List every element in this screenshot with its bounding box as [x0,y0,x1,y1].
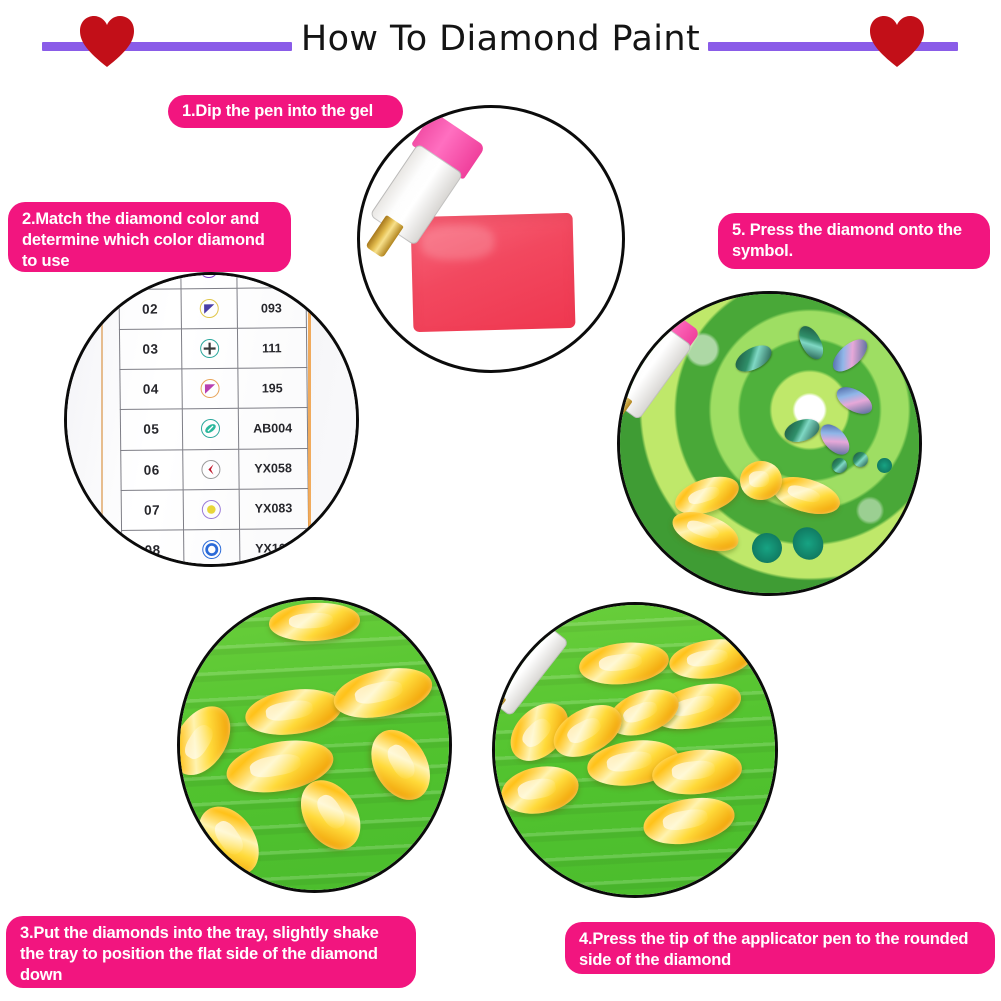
chart-symbol-double-dot-symbol [199,272,218,278]
chart-cell-code: AB004 [238,408,308,449]
step-4-photo [492,602,778,898]
page-header: How To Diamond Paint [0,0,1001,80]
chart-cell-number: 02? [119,272,181,289]
color-chart-image: 02?02802093031110419505AB00406YX05807YX0… [67,275,356,564]
step-2-photo: 02?02802093031110419505AB00406YX05807YX0… [64,272,359,567]
page-title: How To Diamond Paint [0,18,1001,60]
chart-cell-symbol [183,448,239,489]
chart-row: 04195 [120,367,307,409]
chart-cell-symbol [181,288,237,329]
chart-cell-number: 02 [119,289,181,330]
chart-cell-code: YX083 [239,488,309,529]
chart-cell-number: 08 [122,529,184,567]
chart-symbol-chevron-symbol [201,459,220,478]
chart-row: 02093 [119,287,306,329]
chart-symbol-oval-slash-symbol [201,419,220,438]
chart-cell-symbol [183,529,239,567]
chart-cell-code: YX058 [239,448,309,489]
chart-cell-number: 03 [120,329,182,370]
chart-row: 08YX106 [122,528,309,567]
chart-symbol-ring-symbol [202,539,221,558]
chart-cell-number: 05 [120,409,182,450]
chart-cell-code: 028 [236,272,306,288]
chart-symbol-plus-symbol [200,339,219,358]
chart-symbol-triangle-symbol [199,299,218,318]
step-3-photo [177,597,452,893]
diamonds-in-tray-image [180,600,449,890]
chart-cell-number: 04 [120,369,182,410]
chart-row: 06YX058 [121,448,308,490]
chart-cell-symbol [182,368,238,409]
chart-cell-symbol [181,328,237,369]
step-4-label: 4.Press the tip of the applicator pen to… [565,922,995,974]
chart-cell-code: 093 [237,287,307,328]
diamond-on-canvas-image [620,294,919,593]
step-3-label: 3.Put the diamonds into the tray, slight… [6,916,416,988]
chart-cell-symbol [180,272,236,289]
step-1-photo [357,105,625,373]
color-chart-table: 02?02802093031110419505AB00406YX05807YX0… [118,272,309,567]
chart-cell-code: 111 [237,327,307,368]
chart-row: 03111 [120,327,307,369]
chart-cell-symbol [183,489,239,530]
chart-row: 07YX083 [121,488,308,530]
pen-in-gel-image [360,108,622,370]
chart-row: 05AB004 [120,408,307,450]
step-5-photo [617,291,922,596]
chart-cell-code: YX106 [239,528,309,567]
chart-cell-number: 07 [121,489,183,530]
chart-symbol-triangle-symbol [200,379,219,398]
chart-symbol-filled-circle-symbol [202,499,221,518]
chart-cell-code: 195 [238,367,308,408]
chart-paper: 02?02802093031110419505AB00406YX05807YX0… [64,272,359,567]
chart-cell-symbol [182,408,238,449]
pink-gel-pad [411,213,576,332]
step-2-label: 2.Match the diamond color and determine … [8,202,291,272]
chart-row: 02?028 [119,272,306,289]
chart-cell-number: 06 [121,449,183,490]
pen-pressing-diamond-image [495,605,775,895]
step-5-label: 5. Press the diamond onto the symbol. [718,213,990,269]
